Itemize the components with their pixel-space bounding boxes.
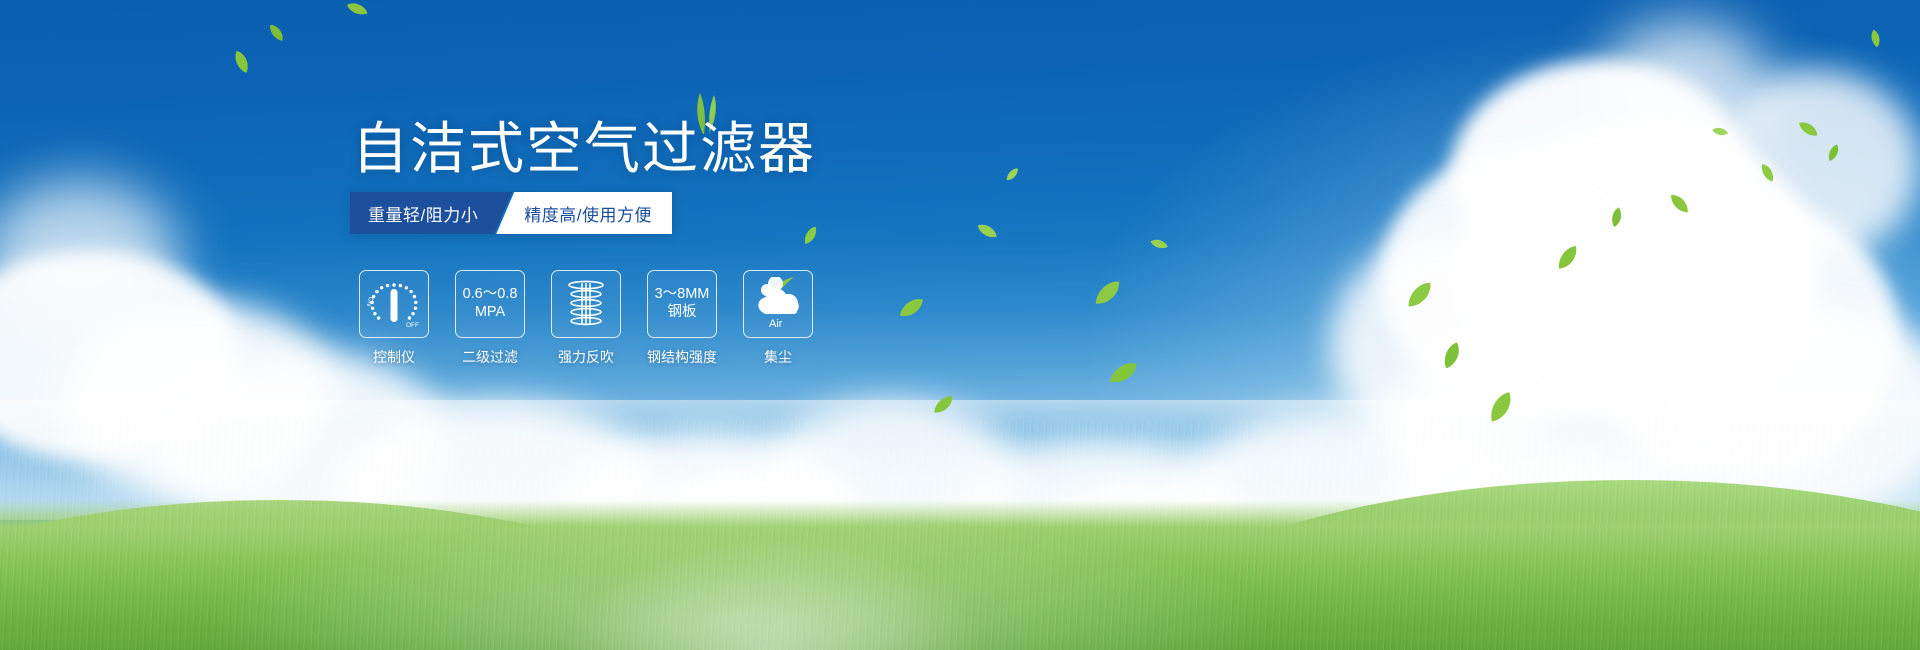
air-label: Air xyxy=(769,318,783,330)
feature-icon-box: Air xyxy=(743,270,813,338)
feature-icon-box xyxy=(551,270,621,338)
hero-banner: 自洁式空气过滤器 重量轻/阻力小 精度高/使用方便 xyxy=(0,0,1920,650)
feature-item-two-stage-filter[interactable]: 0.6～0.8MPA 二级过滤 xyxy=(454,270,526,367)
air-cloud-icon: Air xyxy=(750,277,806,331)
banner-content: 自洁式空气过滤器 重量轻/阻力小 精度高/使用方便 xyxy=(0,0,1920,650)
dial-gauge-icon: NO OFF xyxy=(365,277,423,331)
feature-icon-row: NO OFF 控制仪 0.6～0.8MPA 二级过滤 xyxy=(358,270,814,367)
feature-label: 集尘 xyxy=(764,347,792,367)
feature-icon-box: NO OFF xyxy=(359,270,429,338)
reverse-blow-coil-icon xyxy=(560,277,612,331)
tab-weight-resistance[interactable]: 重量轻/阻力小 xyxy=(350,192,512,234)
page-title: 自洁式空气过滤器 xyxy=(352,118,816,181)
feature-icon-box: 3～8MM钢板 xyxy=(647,270,717,338)
dial-max-label: OFF xyxy=(406,322,419,329)
feature-label: 强力反吹 xyxy=(558,347,614,367)
feature-label: 钢结构强度 xyxy=(647,347,717,367)
feature-label: 二级过滤 xyxy=(462,347,518,367)
feature-item-dust-collection[interactable]: Air 集尘 xyxy=(742,270,814,367)
feature-label: 控制仪 xyxy=(373,347,415,367)
feature-item-steel-strength[interactable]: 3～8MM钢板 钢结构强度 xyxy=(646,270,718,367)
feature-icon-box: 0.6～0.8MPA xyxy=(455,270,525,338)
steel-plate-value: 3～8MM钢板 xyxy=(655,286,710,321)
feature-item-controller[interactable]: NO OFF 控制仪 xyxy=(358,270,430,367)
feature-item-reverse-blow[interactable]: 强力反吹 xyxy=(550,270,622,367)
tab-precision-convenience[interactable]: 精度高/使用方便 xyxy=(496,192,672,234)
dial-min-label: NO xyxy=(366,296,376,307)
pressure-value: 0.6～0.8MPA xyxy=(463,286,518,321)
feature-tabs: 重量轻/阻力小 精度高/使用方便 xyxy=(350,192,672,234)
